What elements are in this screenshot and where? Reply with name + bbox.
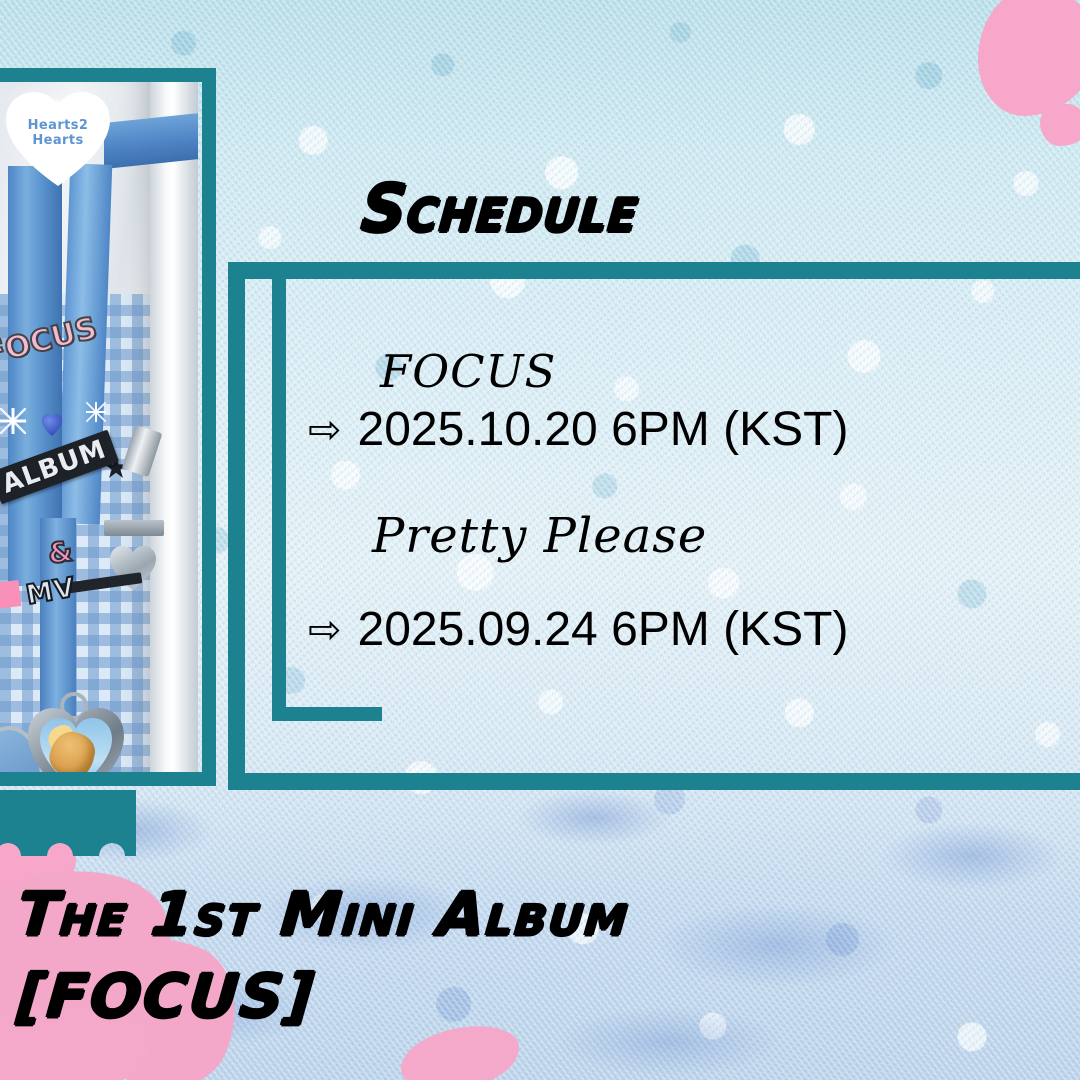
blue-ribbon-horizontal [104, 113, 198, 169]
heart-pin-line-2: Hearts [6, 133, 110, 148]
schedule-track-name-2: Pretty Please [372, 510, 707, 562]
content-frame-top-bar [228, 262, 1080, 279]
heart-gloss-highlight [22, 100, 82, 118]
heart-pin-badge: Hearts2 Hearts [6, 92, 110, 188]
photo-frame-bottom-bar [0, 772, 216, 786]
right-arrow-icon-1: ⇨ [308, 410, 342, 450]
charm-word-ampersand: & [46, 534, 75, 570]
content-frame-left-bar [228, 262, 245, 790]
content-frame-inner-tick-foot [272, 707, 382, 721]
content-frame-inner-tick-bar [272, 279, 286, 707]
pink-splatter-top-right-icon [978, 0, 1080, 116]
footer-block: The 1st Mini Album [FOCUS] [18, 874, 838, 1038]
pink-splatter-top-right-small-icon [1040, 104, 1080, 146]
schedule-datetime-1: 2025.10.20 6PM (KST) [358, 404, 849, 456]
content-frame-bottom-bar [228, 773, 1080, 790]
pink-sticker [0, 580, 21, 610]
photo-frame-top-bar [0, 68, 216, 82]
ticket-decoration-icon [0, 790, 136, 856]
footer-album-line: The 1st Mini Album [14, 874, 841, 956]
poster-canvas: Hearts2 Hearts FOCUS ALBUM & MV [0, 0, 1080, 1080]
schedule-datetime-2: 2025.09.24 6PM (KST) [358, 604, 849, 656]
sparkle-icon-2 [86, 402, 106, 422]
schedule-date-row-1: ⇨ 2025.10.20 6PM (KST) [308, 404, 848, 456]
page-title: Schedule [359, 176, 642, 242]
album-teaser-photo: Hearts2 Hearts FOCUS ALBUM & MV [0, 78, 198, 778]
schedule-date-row-2: ⇨ 2025.09.24 6PM (KST) [308, 604, 848, 656]
photo-white-pillar [150, 78, 198, 778]
heart-pin-line-1: Hearts2 [6, 118, 110, 133]
heart-pin-text: Hearts2 Hearts [6, 118, 110, 148]
metal-charm-bar [104, 520, 164, 536]
sparkle-icon-1 [0, 408, 26, 434]
schedule-track-name-1: FOCUS [380, 348, 556, 396]
photo-frame-right-bar [202, 68, 216, 786]
right-arrow-icon-2: ⇨ [308, 610, 342, 650]
ticket-body [0, 790, 136, 856]
footer-album-title: [FOCUS] [14, 956, 841, 1038]
